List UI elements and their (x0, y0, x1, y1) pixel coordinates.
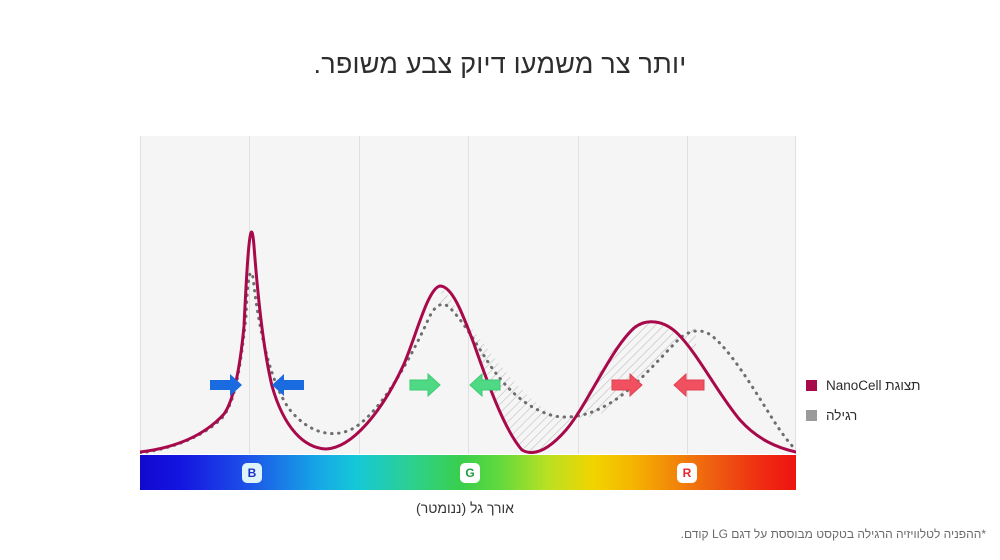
chart-area (140, 136, 796, 454)
chart-page: יותר צר משמעו דיוק צבע משופר. (0, 0, 1000, 560)
footnote-text: *ההפניה לטלוויזיה הרגילה בטקסט מבוססת על… (681, 527, 986, 541)
legend-item-nanocell: תצוגת NanoCell (806, 370, 986, 400)
legend-swatch-regular (806, 410, 817, 421)
legend-label-nanocell: תצוגת NanoCell (826, 378, 921, 393)
band-badge-r: R (677, 463, 697, 483)
legend-label-regular: רגילה (826, 408, 857, 423)
x-axis-label: אורך גל (ננומטר) (340, 500, 590, 516)
band-badge-b: B (242, 463, 262, 483)
band-badge-g: G (460, 463, 480, 483)
spectrum-bar: B G R (140, 455, 796, 490)
legend-item-regular: רגילה (806, 400, 986, 430)
page-title: יותר צר משמעו דיוק צבע משופר. (0, 48, 1000, 80)
legend-swatch-nanocell (806, 380, 817, 391)
chart-legend: תצוגת NanoCell רגילה (806, 370, 986, 430)
spectrum-plot (140, 136, 796, 454)
gridlines (141, 136, 796, 454)
